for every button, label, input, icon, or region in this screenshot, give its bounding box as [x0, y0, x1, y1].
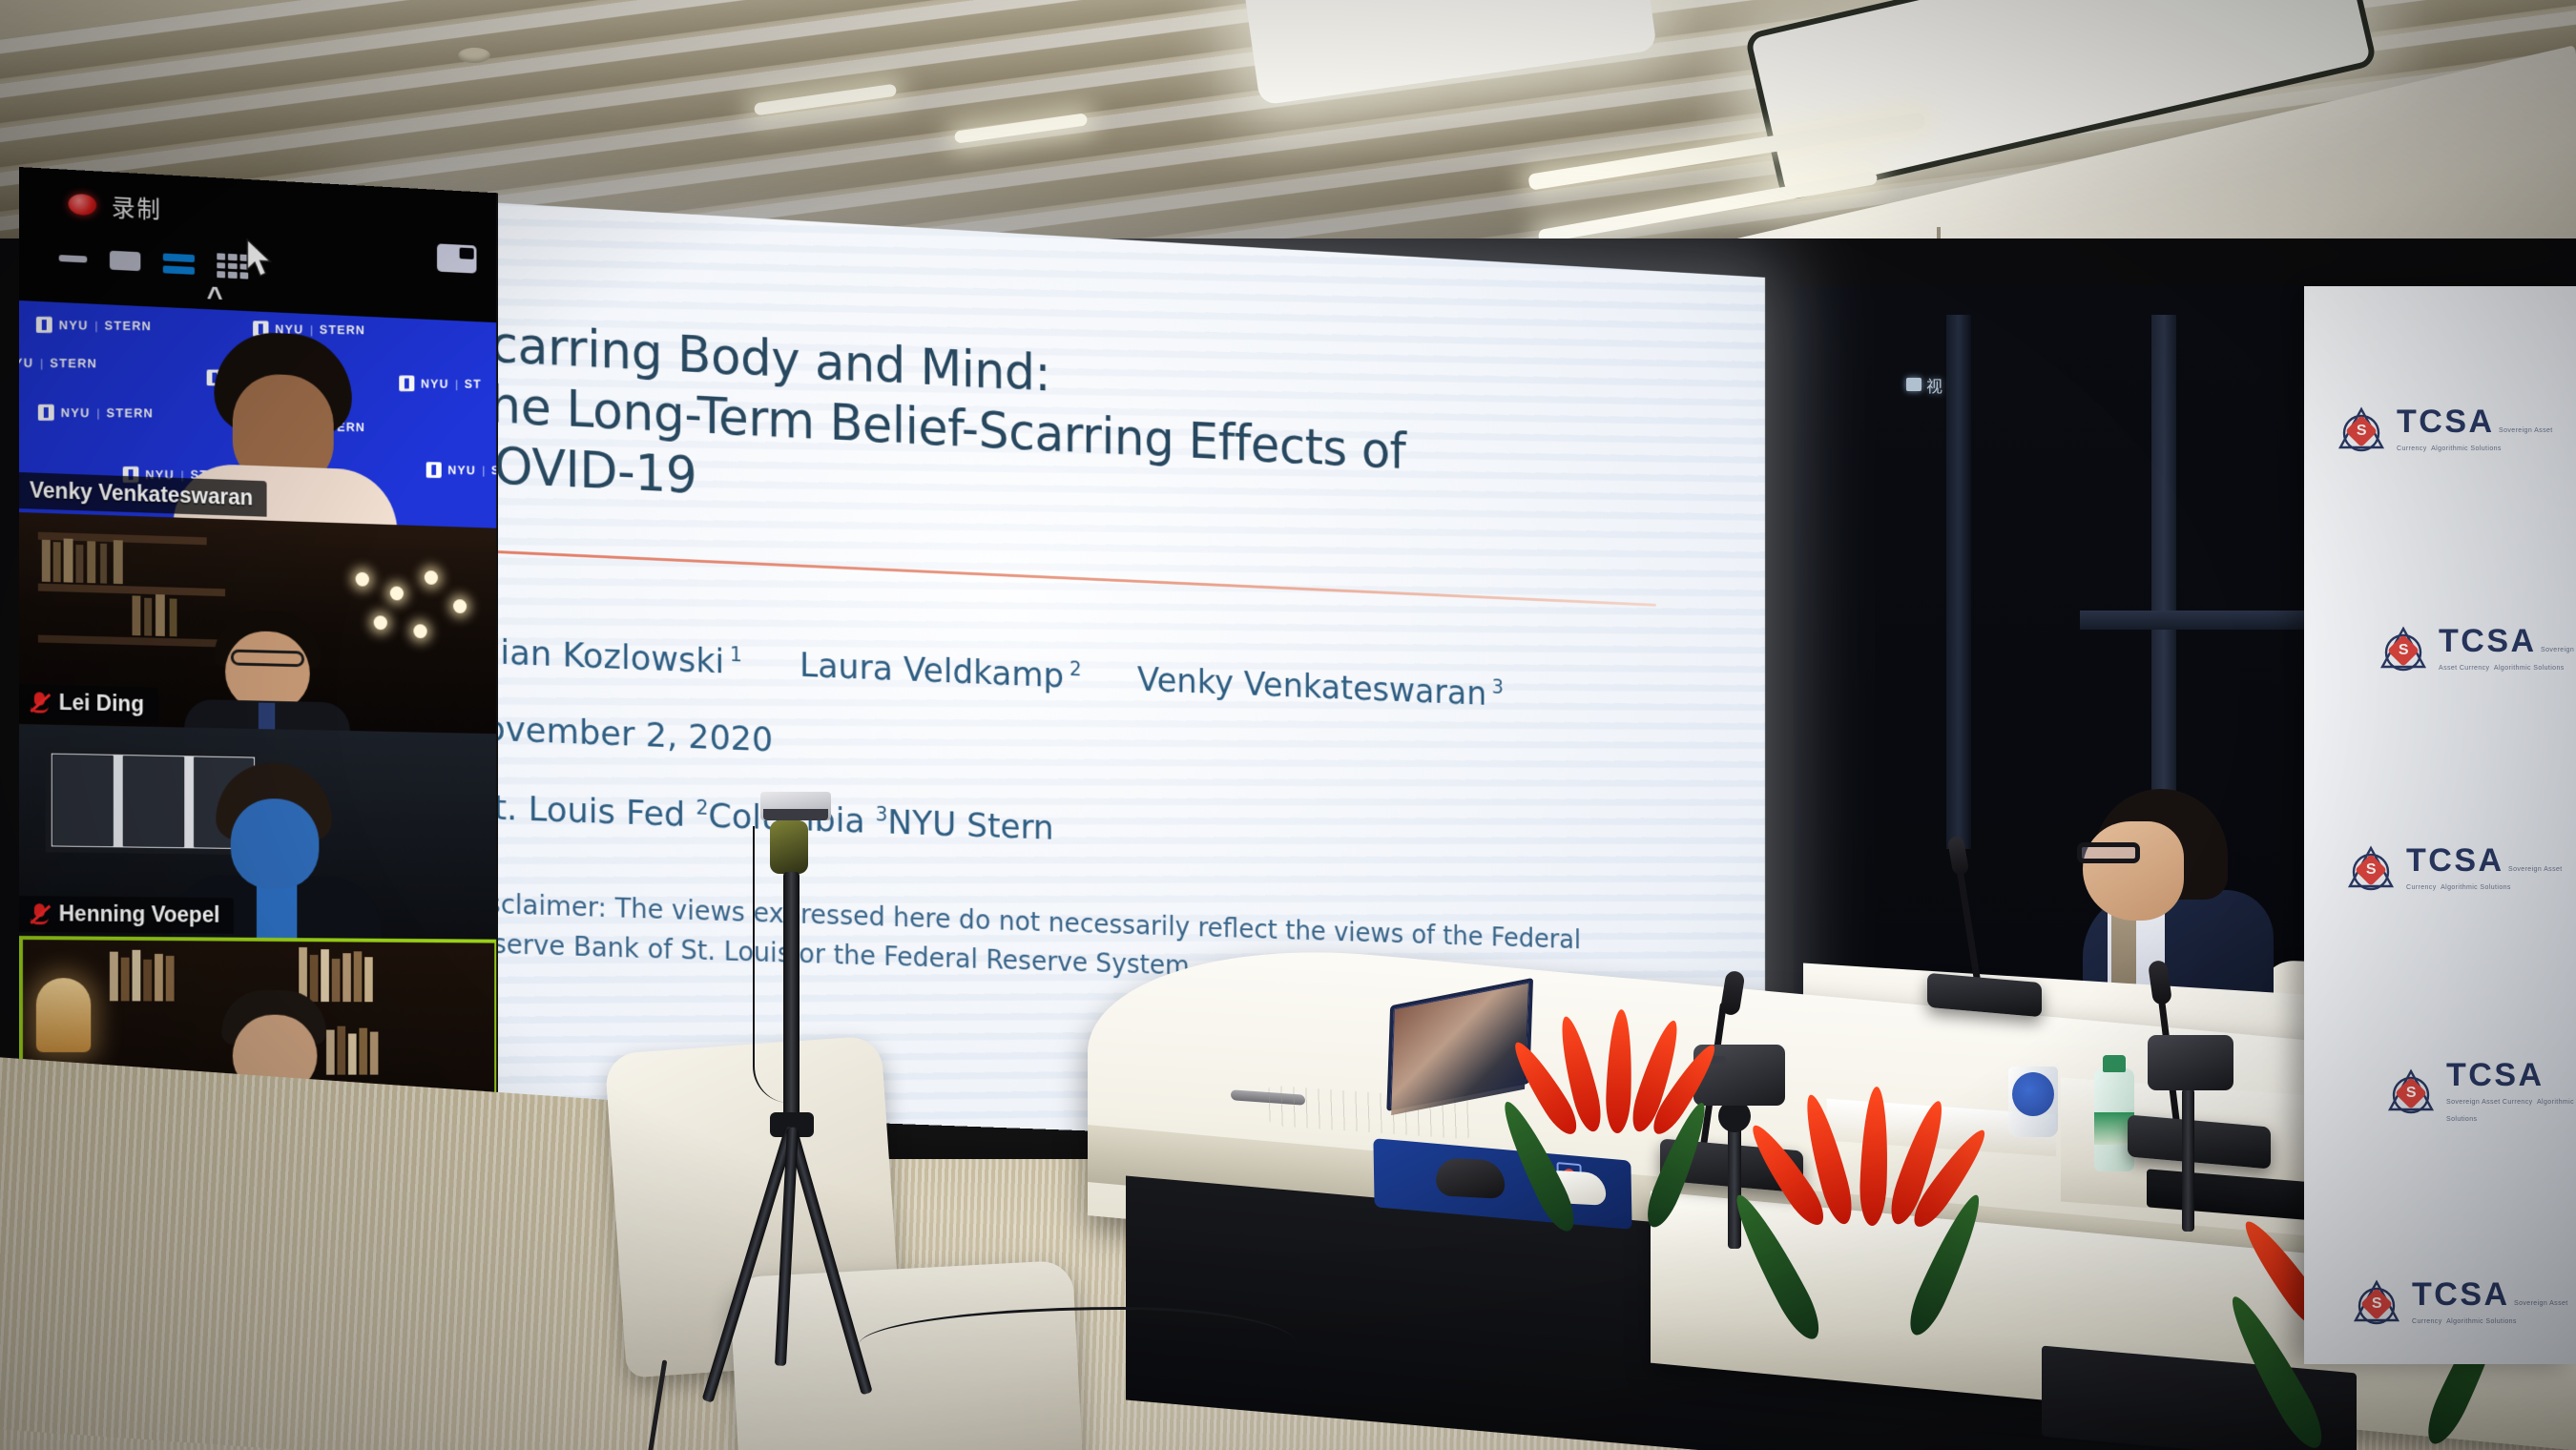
- tcsa-wordmark: TCSA Sovereign Asset Currency Algorithmi…: [2446, 1059, 2576, 1126]
- tcsa-logo-icon: [2346, 844, 2396, 894]
- author-name: Laura Veldkamp: [800, 647, 1064, 696]
- tcsa-logo: TCSA Sovereign Asset Currency Algorithmi…: [2386, 1059, 2576, 1126]
- author-entry: Julian Kozlowski1: [459, 632, 742, 682]
- participant-name: Henning Voepel: [59, 901, 220, 927]
- slide-divider: [455, 549, 1655, 607]
- tcsa-logo: TCSA Sovereign Asset Currency Algorithmi…: [2337, 405, 2576, 455]
- tcsa-wordmark: TCSA Sovereign Asset Currency Algorithmi…: [2397, 405, 2576, 455]
- tcsa-tagline-2: Algorithmic Solutions: [2431, 445, 2502, 452]
- participant-tile[interactable]: Lei Ding: [19, 512, 498, 734]
- tcsa-brand: TCSA: [2439, 623, 2537, 659]
- background-books: [110, 950, 175, 1002]
- slide-title: Scarring Body and Mind: The Long-Term Be…: [459, 313, 1659, 553]
- participant-nameplate: Lei Ding: [19, 684, 158, 723]
- slide-affiliations: 1St. Louis Fed 2Columbia 3NYU Stern: [459, 788, 1691, 871]
- author-entry: Venky Venkateswaran3: [1137, 661, 1504, 715]
- video-camera: [760, 792, 831, 820]
- record-dot-icon: [69, 194, 97, 216]
- author-name: Venky Venkateswaran: [1137, 661, 1486, 714]
- wall-monitor-sign: 视: [1906, 372, 1973, 397]
- affiliation-marker: 2: [696, 797, 708, 819]
- desk-camera: [2142, 1035, 2237, 1216]
- affiliation-name: St. Louis Fed: [472, 788, 686, 835]
- tcsa-brand: TCSA: [2412, 1276, 2510, 1313]
- participant-tile[interactable]: Henning Voepel: [19, 724, 498, 940]
- camera-tripod: [711, 792, 883, 1402]
- tcsa-wordmark: TCSA Sovereign Asset Currency Algorithmi…: [2406, 844, 2576, 894]
- camera-cable: [753, 826, 789, 1103]
- tcsa-logo-icon: [2379, 625, 2428, 674]
- tcsa-banner: TCSA Sovereign Asset Currency Algorithmi…: [2304, 286, 2576, 1364]
- view-mode-controls[interactable]: [59, 245, 496, 291]
- tcsa-tagline-2: Algorithmic Solutions: [2441, 884, 2511, 891]
- affiliation-name: NYU Stern: [887, 803, 1053, 847]
- wall-sign-label: 视: [1926, 373, 1943, 397]
- participant-tile[interactable]: NYU|STERN NYU|STERN NYU|STERN NYU|STERN …: [19, 300, 498, 528]
- side-by-side-view-icon[interactable]: [163, 253, 195, 274]
- tcsa-logo: TCSA Sovereign Asset Currency Algorithmi…: [2352, 1278, 2576, 1328]
- attendee-face: [2083, 821, 2184, 921]
- speaker-view-icon[interactable]: [110, 251, 140, 271]
- screenshot-root: 视 Scarring Body and Mind: The Long-Term …: [0, 0, 2576, 1450]
- author-affiliation-marker: 2: [1070, 658, 1082, 681]
- tcsa-logo-icon: [2352, 1278, 2401, 1328]
- background-lamp: [36, 978, 91, 1052]
- author-affiliation-marker: 1: [730, 643, 742, 666]
- smoke-detector-icon: [458, 48, 490, 63]
- tcsa-tagline-1: Sovereign Asset Currency: [2446, 1099, 2533, 1106]
- microphone-muted-icon: [30, 902, 51, 925]
- slide-date: November 2, 2020: [459, 709, 1691, 796]
- minimize-icon[interactable]: [59, 255, 88, 262]
- tcsa-tagline-2: Algorithmic Solutions: [2494, 665, 2565, 672]
- participant-name: Lei Ding: [59, 690, 144, 717]
- tcsa-logo-icon: [2337, 405, 2386, 455]
- drinking-cup: [2008, 1067, 2058, 1137]
- background-lights: [346, 565, 482, 658]
- tcsa-logo: TCSA Sovereign Asset Currency Algorithmi…: [2379, 625, 2576, 674]
- tcsa-wordmark: TCSA Sovereign Asset Currency Algorithmi…: [2439, 625, 2576, 674]
- tcsa-logo: TCSA Sovereign Asset Currency Algorithmi…: [2346, 844, 2576, 894]
- attendee-glasses: [2077, 842, 2140, 863]
- participant-name: Venky Venkateswaran: [30, 477, 253, 510]
- recording-label: 录制: [112, 189, 162, 226]
- gallery-view-icon[interactable]: [217, 253, 248, 279]
- author-affiliation-marker: 3: [1492, 676, 1504, 699]
- tcsa-brand: TCSA: [2406, 842, 2504, 879]
- recording-indicator: 录制: [69, 187, 497, 243]
- videoconference-toolbar[interactable]: 录制 ^: [19, 167, 496, 322]
- tripod-leg: [785, 1126, 872, 1395]
- sign-icon: [1906, 378, 1922, 391]
- tcsa-logo-icon: [2386, 1067, 2436, 1117]
- microphone-muted-icon: [30, 691, 51, 714]
- author-entry: Laura Veldkamp2: [800, 647, 1082, 697]
- tcsa-brand: TCSA: [2397, 404, 2495, 440]
- gooseneck-microphone: [1927, 978, 2042, 1012]
- tcsa-wordmark: TCSA Sovereign Asset Currency Algorithmi…: [2412, 1278, 2576, 1328]
- participant-video: [194, 609, 341, 734]
- participant-nameplate: Henning Voepel: [19, 896, 234, 934]
- author-name: Julian Kozlowski: [459, 632, 724, 681]
- picture-in-picture-icon[interactable]: [437, 243, 476, 273]
- tcsa-tagline-2: Algorithmic Solutions: [2446, 1318, 2517, 1325]
- slide-authors: Julian Kozlowski1 Laura Veldkamp2 Venky …: [459, 632, 1691, 721]
- tcsa-brand: TCSA: [2446, 1057, 2545, 1093]
